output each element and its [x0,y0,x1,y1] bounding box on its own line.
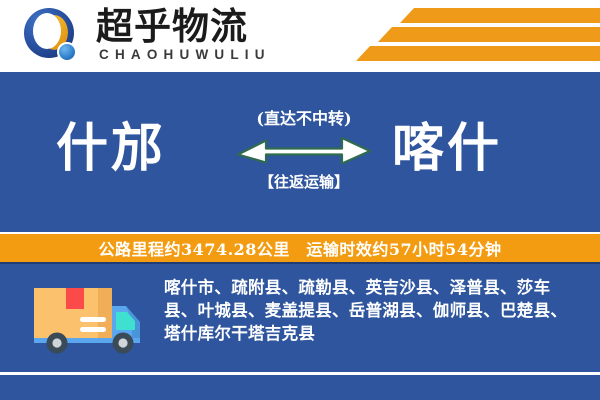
route-panel: 什邡 (直达不中转) 【往返运输】 喀什 [0,72,600,232]
banner-header: 超乎物流 CHAOHUWULIU [0,0,600,72]
stripe-1 [400,8,600,23]
coverage-area-list: 喀什市、疏附县、疏勒县、英吉沙县、泽普县、莎车县、叶城县、麦盖提县、岳普湖县、伽… [164,276,582,345]
decorative-stripes [340,6,600,68]
round-trip-note: 【往返运输】 [236,172,372,192]
stripe-2 [378,27,600,42]
stripe-3 [356,46,600,61]
delivery-truck-icon [28,282,146,354]
circle-crescent-logo-icon [24,8,86,68]
logistics-route-banner: 超乎物流 CHAOHUWULIU 什邡 (直达不中转) 【往返运输】 喀什 公路… [0,0,600,400]
route-center-group: (直达不中转) 【往返运输】 [236,108,372,192]
brand-name-pinyin: CHAOHUWULIU [99,47,271,62]
bottom-strip [0,375,600,400]
logo-dot-shape [57,42,77,62]
double-arrow-icon [236,134,372,166]
coverage-area-panel: 喀什市、疏附县、疏勒县、英吉沙县、泽普县、莎车县、叶城县、麦盖提县、岳普湖县、伽… [0,264,600,372]
distance-duration-bar: 公路里程约3474.28公里 运输时效约57小时54分钟 [0,232,600,264]
brand-name-chinese: 超乎物流 [96,5,248,47]
destination-city-name: 喀什 [392,118,502,180]
distance-duration-text: 公路里程约3474.28公里 运输时效约57小时54分钟 [99,236,502,260]
origin-city-name: 什邡 [56,118,166,180]
logo-crescent-cut-shape [33,13,61,49]
direct-shipping-note: (直达不中转) [236,108,372,130]
